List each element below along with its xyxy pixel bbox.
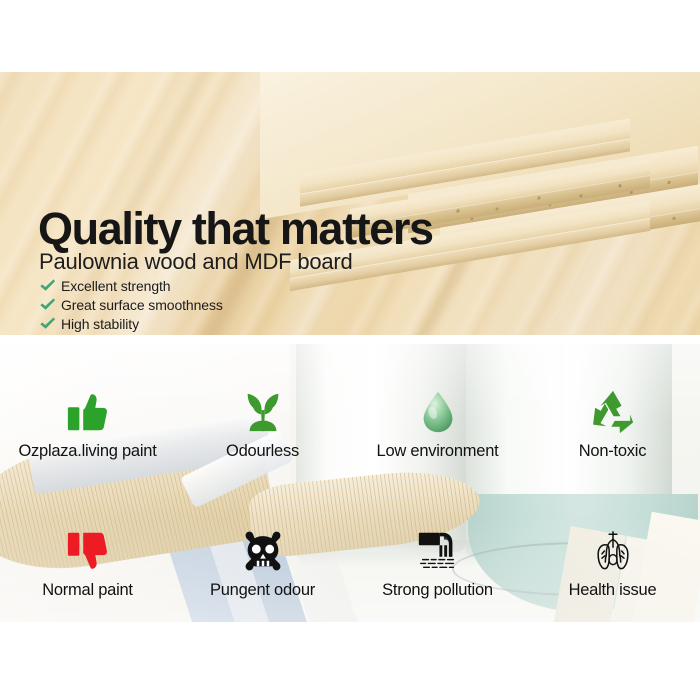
- comparison-item-label: Ozplaza.living paint: [18, 442, 156, 461]
- comparison-item-strong-pollution: Strong pollution: [350, 483, 525, 622]
- paint-comparison-panel: Ozplaza.living paint Odourless: [0, 344, 700, 622]
- page-title: Quality that matters: [38, 206, 433, 251]
- comparison-item-label: Strong pollution: [382, 581, 493, 600]
- page-subtitle: Paulownia wood and MDF board: [39, 249, 353, 275]
- thumbs-up-icon: [65, 389, 111, 435]
- feature-list: Excellent strength Great surface smoothn…: [39, 276, 295, 335]
- list-item-label: Reduced formaldehyde emissions: [61, 335, 269, 336]
- list-item: High stability: [39, 314, 295, 333]
- list-item: Reduced formaldehyde emissions: [39, 333, 295, 335]
- comparison-item-low-environment: Low environment: [350, 344, 525, 483]
- hero-wood-panel: Quality that matters Paulownia wood and …: [0, 72, 700, 335]
- comparison-item-ozplaza-paint: Ozplaza.living paint: [0, 344, 175, 483]
- check-icon: [39, 334, 56, 335]
- comparison-item-non-toxic: Non-toxic: [525, 344, 700, 483]
- comparison-item-label: Non-toxic: [579, 442, 646, 461]
- comparison-item-health-issue: Health issue: [525, 483, 700, 622]
- check-icon: [39, 296, 56, 313]
- list-item-label: High stability: [61, 316, 139, 332]
- comparison-item-odourless: Odourless: [175, 344, 350, 483]
- thumbs-down-icon: [65, 528, 111, 574]
- list-item: Great surface smoothness: [39, 295, 295, 314]
- check-icon: [39, 277, 56, 294]
- list-item: Excellent strength: [39, 276, 295, 295]
- list-item-label: Excellent strength: [61, 278, 170, 294]
- pollution-pipe-icon: [415, 528, 461, 574]
- water-drop-icon: [415, 389, 461, 435]
- lungs-icon: [590, 528, 636, 574]
- sprout-icon: [240, 389, 286, 435]
- comparison-item-label: Normal paint: [42, 581, 133, 600]
- comparison-item-label: Health issue: [569, 581, 657, 600]
- check-icon: [39, 315, 56, 332]
- comparison-grid: Ozplaza.living paint Odourless: [0, 344, 700, 622]
- comparison-item-label: Pungent odour: [210, 581, 315, 600]
- list-item-label: Great surface smoothness: [61, 297, 223, 313]
- comparison-item-label: Low environment: [377, 442, 499, 461]
- skull-crossbones-icon: [240, 528, 286, 574]
- comparison-item-label: Odourless: [226, 442, 299, 461]
- comparison-item-pungent-odour: Pungent odour: [175, 483, 350, 622]
- comparison-item-normal-paint: Normal paint: [0, 483, 175, 622]
- recycle-icon: [590, 389, 636, 435]
